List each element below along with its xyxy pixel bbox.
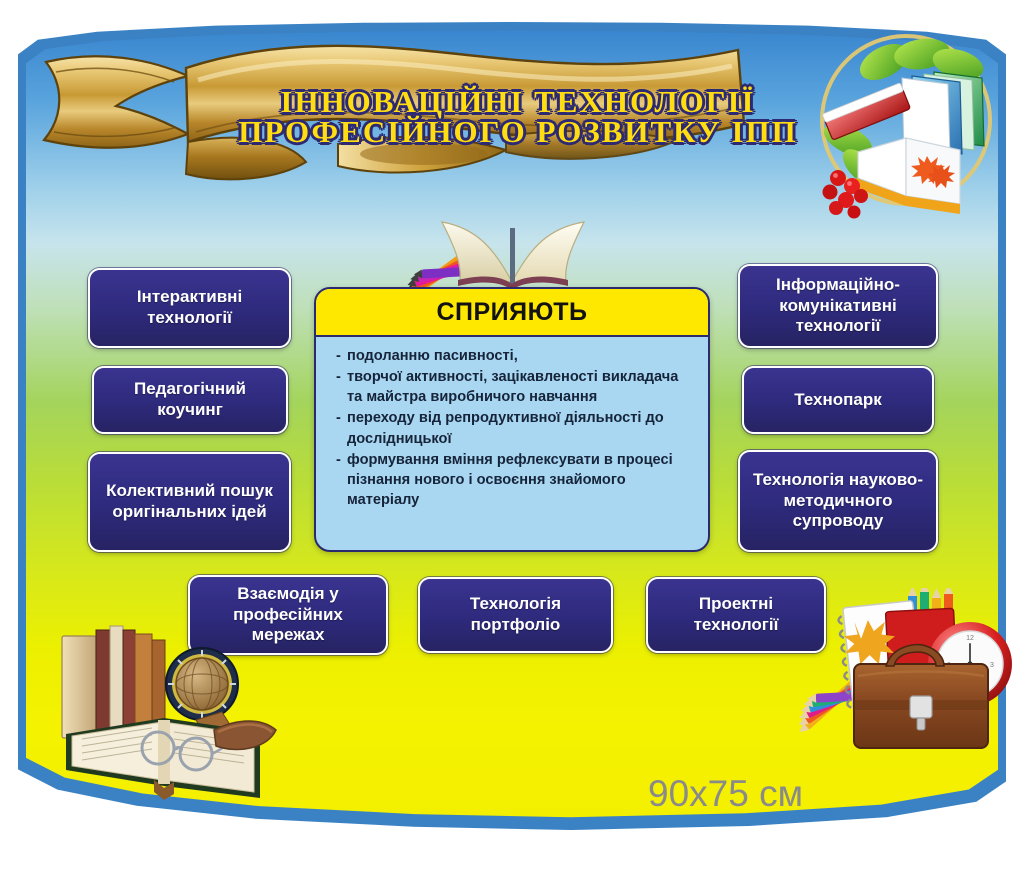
dimensions-label: 90x75 см bbox=[648, 773, 803, 815]
card-pedagogical-coaching[interactable]: Педагогічний коучинг bbox=[92, 366, 288, 434]
bullet-item: - формування вміння рефлексувати в проце… bbox=[336, 450, 694, 510]
bullet-marker: - bbox=[336, 450, 347, 510]
card-label: Інтерактивні технології bbox=[98, 287, 281, 328]
poster-title-line1: ІННОВАЦІЙНІ ТЕХНОЛОГІЇ bbox=[228, 86, 808, 118]
center-panel: СПРИЯЮТЬ - подоланню пасивності, - творч… bbox=[314, 287, 710, 552]
bullet-item: - творчої активності, зацікавленості вик… bbox=[336, 367, 694, 407]
card-scientific-method-support[interactable]: Технологія науково-методичного супроводу bbox=[738, 450, 938, 552]
title-banner: ІННОВАЦІЙНІ ТЕХНОЛОГІЇ ПРОФЕСІЙНОГО РОЗВ… bbox=[38, 28, 758, 188]
card-technopark[interactable]: Технопарк bbox=[742, 366, 934, 434]
card-collective-search-ideas[interactable]: Колективний пошук оригінальних ідей bbox=[88, 452, 291, 552]
card-label: Педагогічний коучинг bbox=[102, 379, 278, 420]
card-label: Технологія науково-методичного супроводу bbox=[748, 470, 928, 532]
open-book-pencils-decoration bbox=[398, 192, 628, 302]
card-ict[interactable]: Інформаційно-комунікативні технології bbox=[738, 264, 938, 348]
svg-text:12: 12 bbox=[966, 635, 974, 642]
poster-canvas: ІННОВАЦІЙНІ ТЕХНОЛОГІЇ ПРОФЕСІЙНОГО РОЗВ… bbox=[0, 0, 1024, 875]
bullet-text: формування вміння рефлексувати в процесі… bbox=[347, 450, 694, 510]
poster-title: ІННОВАЦІЙНІ ТЕХНОЛОГІЇ ПРОФЕСІЙНОГО РОЗВ… bbox=[228, 86, 808, 147]
bullet-text: творчої активності, зацікавленості викла… bbox=[347, 367, 694, 407]
bullet-text: переходу від репродуктивної діяльності д… bbox=[347, 408, 694, 448]
card-label: Проектні технології bbox=[656, 594, 816, 635]
bullet-marker: - bbox=[336, 346, 347, 366]
bullet-item: - подоланню пасивності, bbox=[336, 346, 694, 366]
card-portfolio-technology[interactable]: Технологія портфоліо bbox=[418, 577, 613, 653]
card-label: Технопарк bbox=[794, 390, 882, 411]
svg-text:3: 3 bbox=[990, 662, 994, 669]
bullet-item: - переходу від репродуктивної діяльності… bbox=[336, 408, 694, 448]
vintage-books-globe-decoration bbox=[46, 608, 296, 808]
center-panel-heading: СПРИЯЮТЬ bbox=[316, 289, 708, 337]
bullet-text: подоланню пасивності, bbox=[347, 346, 694, 366]
bullet-marker: - bbox=[336, 408, 347, 448]
card-label: Інформаційно-комунікативні технології bbox=[748, 275, 928, 337]
bullet-marker: - bbox=[336, 367, 347, 407]
briefcase-supplies-decoration: 123 69 bbox=[796, 588, 1016, 768]
books-medallion-decoration bbox=[806, 28, 1006, 248]
card-label: Технологія портфоліо bbox=[428, 594, 603, 635]
card-interactive-technologies[interactable]: Інтерактивні технології bbox=[88, 268, 291, 348]
card-label: Колективний пошук оригінальних ідей bbox=[98, 481, 281, 522]
center-panel-body: - подоланню пасивності, - творчої активн… bbox=[316, 337, 708, 519]
poster-title-line2: ПРОФЕСІЙНОГО РОЗВИТКУ ІПП bbox=[228, 116, 808, 148]
